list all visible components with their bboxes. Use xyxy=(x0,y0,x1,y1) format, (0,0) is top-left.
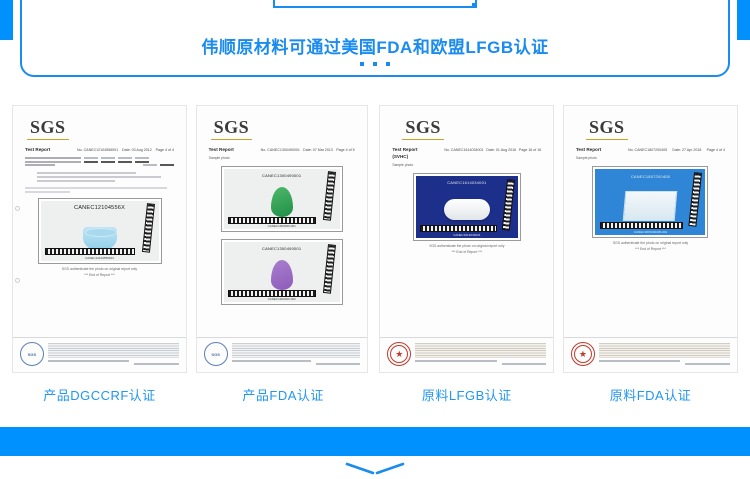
certificate-item-4[interactable]: SGS Test Report No. CANEC1807200405 Date… xyxy=(563,105,738,405)
report-number: No. CANEC1300490001 xyxy=(261,148,300,152)
report-page: Page 4 of 4 xyxy=(707,148,725,152)
sample-photo-4: CANEC1807200405 CANEC1807200405-001 xyxy=(595,169,705,235)
dot-3 xyxy=(386,62,390,66)
report-number: No. CANEC1614034001 xyxy=(444,148,483,152)
sample-photo-subcode: CANEC1807200405-001 xyxy=(634,230,667,234)
sample-photo-subcode: CANEC12104556001 xyxy=(85,256,114,260)
certificate-footer-3 xyxy=(380,337,553,366)
ruler-horizontal-icon xyxy=(228,217,316,224)
title-corner-marker xyxy=(472,3,477,8)
report-title: Test Report xyxy=(392,147,417,152)
report-number: No. CANEC12104556001 xyxy=(77,148,118,152)
sample-object-green-teardrop xyxy=(271,187,293,217)
dot-1 xyxy=(360,62,364,66)
sample-photo-code: CANEC1807200405 xyxy=(631,174,670,179)
official-red-stamp-icon xyxy=(571,342,595,366)
sample-photo-label-4: Sample photo xyxy=(576,156,729,160)
sample-photo-frame-3: CANEC1614034001 CANEC1614034001 xyxy=(413,173,521,241)
report-remark-1 xyxy=(25,187,174,193)
sgs-logo: SGS xyxy=(402,117,444,140)
certificate-footer-2: SGS xyxy=(197,337,367,366)
sgs-stamp-icon: SGS xyxy=(204,342,228,366)
ruler-vertical-icon xyxy=(142,204,155,254)
certificate-footer-1: SGS xyxy=(13,337,186,366)
sample-photo-frame-4: CANEC1807200405 CANEC1807200405-001 xyxy=(592,166,708,238)
certificate-caption-1: 产品DGCCRF认证 xyxy=(12,385,187,404)
report-page: Page 16 of 16 xyxy=(519,148,541,152)
dot-2 xyxy=(373,62,377,66)
sample-object-purple-teardrop xyxy=(271,260,293,290)
sample-photo-1: CANEC12104556X CANEC12104556001 xyxy=(41,201,159,261)
chevron-down-icon[interactable] xyxy=(345,462,405,476)
sample-object-soap-bar xyxy=(444,199,490,220)
certificate-item-1[interactable]: SGS Test Report No. CANEC12104556001 Dat… xyxy=(12,105,187,405)
certificate-gallery: SGS Test Report No. CANEC12104556001 Dat… xyxy=(0,105,750,405)
sample-photo-subcode: CANEC1300490-002 xyxy=(268,297,296,301)
report-header-2: Test Report No. CANEC1300490001 Date: 07… xyxy=(209,147,359,154)
report-header-4: Test Report No. CANEC1807200405 Date: 27… xyxy=(576,147,729,154)
sample-photo-2a: CANEC1300490001 CANEC1300490-001 xyxy=(224,169,340,229)
sgs-stamp-icon: SGS xyxy=(20,342,44,366)
ruler-horizontal-icon xyxy=(45,248,135,255)
section-subtitle: 伟顺原材料可通过美国FDA和欧盟LFGB认证 xyxy=(0,33,750,58)
report-date: Date: 01 Aug 2016 xyxy=(486,148,516,152)
ruler-vertical-icon xyxy=(501,179,514,230)
certificate-caption-3: 原料LFGB认证 xyxy=(379,385,554,404)
ruler-horizontal-icon xyxy=(228,290,316,297)
sample-photo-code: CANEC1614034001 xyxy=(447,180,486,185)
hole-punch-icon xyxy=(15,278,20,283)
certificate-image-3[interactable]: SGS Test Report (SVHC) No. CANEC16140340… xyxy=(379,105,554,373)
ruler-horizontal-icon xyxy=(600,222,684,229)
report-header-1: Test Report No. CANEC12104556001 Date: 0… xyxy=(25,147,178,154)
certificate-item-3[interactable]: SGS Test Report (SVHC) No. CANEC16140340… xyxy=(379,105,554,405)
report-page: Page 4 of 4 xyxy=(156,148,174,152)
certificate-image-2[interactable]: SGS Test Report No. CANEC1300490001 Date… xyxy=(196,105,368,373)
sample-photo-code: CANEC1300490001 xyxy=(262,246,301,251)
sample-photo-label-3: Sample photo xyxy=(392,163,545,167)
section-title-box: 权威的资质 xyxy=(273,0,477,8)
sample-object-silicone-sheet xyxy=(623,191,678,221)
sample-photo-code: CANEC1300490001 xyxy=(262,173,301,178)
bottom-accent-band xyxy=(0,427,750,456)
decorative-dots xyxy=(360,62,390,66)
report-notes-1 xyxy=(37,172,178,181)
report-header-3: Test Report (SVHC) No. CANEC1614034001 D… xyxy=(392,147,545,161)
certificate-item-2[interactable]: SGS Test Report No. CANEC1300490001 Date… xyxy=(196,105,371,405)
sample-photo-label-2: Sample photo xyxy=(209,156,359,160)
certificate-footer-4 xyxy=(564,337,737,366)
sample-photo-code: CANEC12104556X xyxy=(74,205,125,211)
photo-caption-1: SGS authenticate the photo on original r… xyxy=(21,267,178,279)
report-date: Date: 03 Aug 2012 xyxy=(122,148,152,152)
report-title: Test Report xyxy=(25,147,77,154)
sample-photo-2b: CANEC1300490001 CANEC1300490-002 xyxy=(224,242,340,302)
photo-caption-3: SGS authenticate the photo on original r… xyxy=(388,244,545,256)
report-number: No. CANEC1807200405 xyxy=(628,148,667,152)
ruler-horizontal-icon xyxy=(420,225,498,232)
sgs-logo: SGS xyxy=(211,117,253,140)
report-title-secondary: (SVHC) xyxy=(392,154,408,159)
photo-caption-4: SGS authenticate the photo on original r… xyxy=(572,241,729,253)
report-date: Date: 27 Apr 2018 xyxy=(672,148,701,152)
hole-punch-icon xyxy=(15,206,20,211)
ruler-vertical-icon xyxy=(323,245,336,295)
ruler-vertical-icon xyxy=(323,172,336,222)
page-root: 权威的资质 伟顺原材料可通过美国FDA和欧盟LFGB认证 SGS Test Re… xyxy=(0,0,750,479)
certificate-caption-2: 产品FDA认证 xyxy=(196,385,371,404)
ruler-vertical-icon xyxy=(689,172,703,227)
sgs-logo: SGS xyxy=(586,117,628,140)
report-date: Date: 07 Mar 2013 xyxy=(303,148,333,152)
sample-photo-frame-1: CANEC12104556X CANEC12104556001 xyxy=(38,198,162,264)
header-banner: 权威的资质 伟顺原材料可通过美国FDA和欧盟LFGB认证 xyxy=(0,0,750,92)
certificate-image-1[interactable]: SGS Test Report No. CANEC12104556001 Dat… xyxy=(12,105,187,373)
official-red-stamp-icon xyxy=(387,342,411,366)
sgs-logo: SGS xyxy=(27,117,69,140)
sample-photo-subcode: CANEC1614034001 xyxy=(453,233,480,237)
certificate-image-4[interactable]: SGS Test Report No. CANEC1807200405 Date… xyxy=(563,105,738,373)
results-table-1 xyxy=(25,157,174,167)
report-title: Test Report xyxy=(576,147,628,154)
report-title: Test Report xyxy=(209,147,261,154)
sample-photo-subcode: CANEC1300490-001 xyxy=(268,224,296,228)
sample-photo-3: CANEC1614034001 CANEC1614034001 xyxy=(416,176,518,238)
certificate-caption-4: 原料FDA认证 xyxy=(563,385,738,404)
sample-photo-frame-2a: CANEC1300490001 CANEC1300490-001 xyxy=(221,166,343,232)
sample-photo-frame-2b: CANEC1300490001 CANEC1300490-002 xyxy=(221,239,343,305)
report-page: Page 4 of 5 xyxy=(336,148,354,152)
